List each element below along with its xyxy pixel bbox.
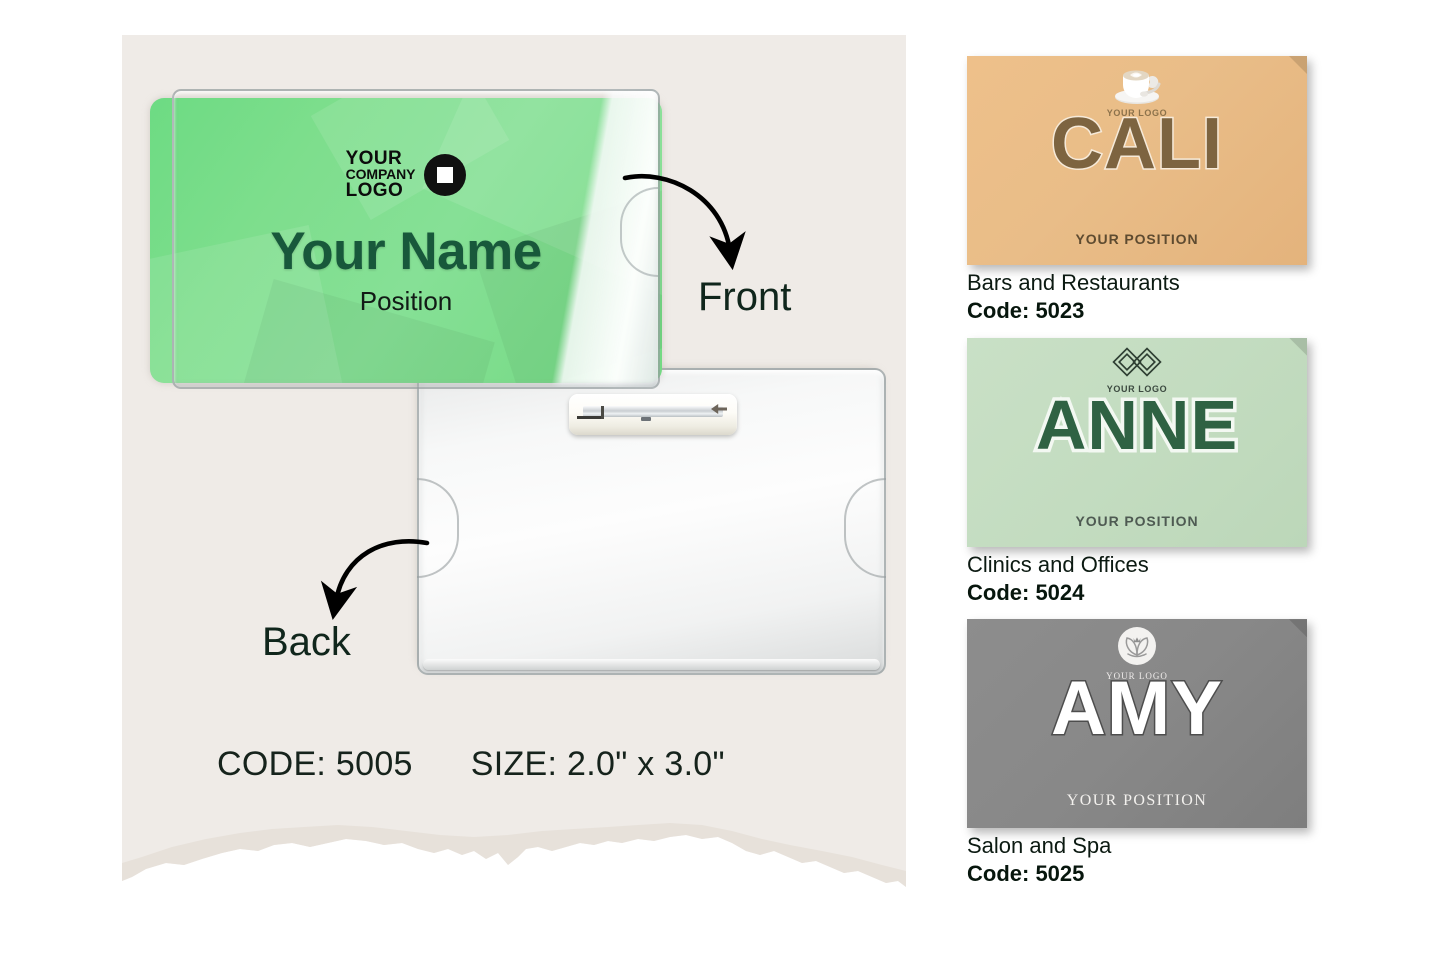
back-notch-left [417, 478, 459, 578]
sample-caption-amy: Salon and Spa [967, 832, 1309, 860]
sample-item-anne: YOUR LOGO ANNE YOUR POSITION Clinics and… [967, 338, 1309, 607]
torn-paper-edge [122, 793, 906, 923]
sample-name-text: CALI [967, 108, 1307, 180]
badge-front-view: YOUR COMPANY LOGO Your Name Position [150, 98, 662, 383]
lotus-crown-icon [1114, 625, 1160, 671]
logo-line-3: LOGO [346, 182, 404, 200]
back-callout-label: Back [262, 620, 351, 665]
sample-position-text: YOUR POSITION [967, 792, 1307, 810]
sample-name-text: ANNE [967, 390, 1307, 460]
pin-bar [583, 406, 723, 417]
sample-code-cali: Code: 5023 [967, 297, 1309, 325]
sample-card-amy[interactable]: YOUR LOGO AMY YOUR POSITION [967, 619, 1307, 828]
badge-back-view [417, 368, 882, 671]
sample-caption-cali: Bars and Restaurants [967, 269, 1309, 297]
sample-code-amy: Code: 5025 [967, 860, 1309, 888]
coffee-cup-icon [1108, 62, 1166, 108]
logo-wordmark: YOUR COMPANY LOGO [346, 150, 416, 200]
front-card-body: YOUR COMPANY LOGO Your Name Position [150, 98, 662, 383]
sample-card-anne[interactable]: YOUR LOGO ANNE YOUR POSITION [967, 338, 1307, 547]
interlocking-diamonds-icon [1109, 344, 1165, 384]
product-specs: CODE: 5005 SIZE: 2.0" x 3.0" [217, 745, 725, 784]
badge-position-text: Position [150, 286, 662, 317]
back-bottom-lip [423, 659, 880, 670]
back-notch-right [844, 478, 886, 578]
sample-caption-anne: Clinics and Offices [967, 551, 1309, 579]
sample-card-cali[interactable]: YOUR LOGO CALI YOUR POSITION [967, 56, 1307, 265]
product-code-text: CODE: 5005 [217, 745, 413, 784]
sample-item-amy: YOUR LOGO AMY YOUR POSITION Salon and Sp… [967, 619, 1309, 888]
pin-clip [569, 394, 737, 435]
product-showcase-panel: YOUR COMPANY LOGO Your Name Position Fro… [122, 35, 906, 923]
sample-code-anne: Code: 5024 [967, 579, 1309, 607]
sample-badges-column: YOUR LOGO CALI YOUR POSITION Bars and Re… [967, 56, 1309, 901]
product-size-text: SIZE: 2.0" x 3.0" [471, 745, 725, 784]
front-callout-label: Front [698, 275, 791, 320]
sample-name-text: AMY [967, 671, 1307, 747]
pin-hook-riser [601, 406, 604, 419]
sample-position-text: YOUR POSITION [967, 231, 1307, 247]
sample-position-text: YOUR POSITION [967, 513, 1307, 529]
pin-dot [641, 417, 651, 421]
sample-item-cali: YOUR LOGO CALI YOUR POSITION Bars and Re… [967, 56, 1309, 325]
badge-name-text: Your Name [150, 221, 662, 282]
company-logo: YOUR COMPANY LOGO [150, 150, 662, 200]
circle-square-logo-icon [424, 154, 466, 196]
pin-hook [577, 416, 603, 419]
